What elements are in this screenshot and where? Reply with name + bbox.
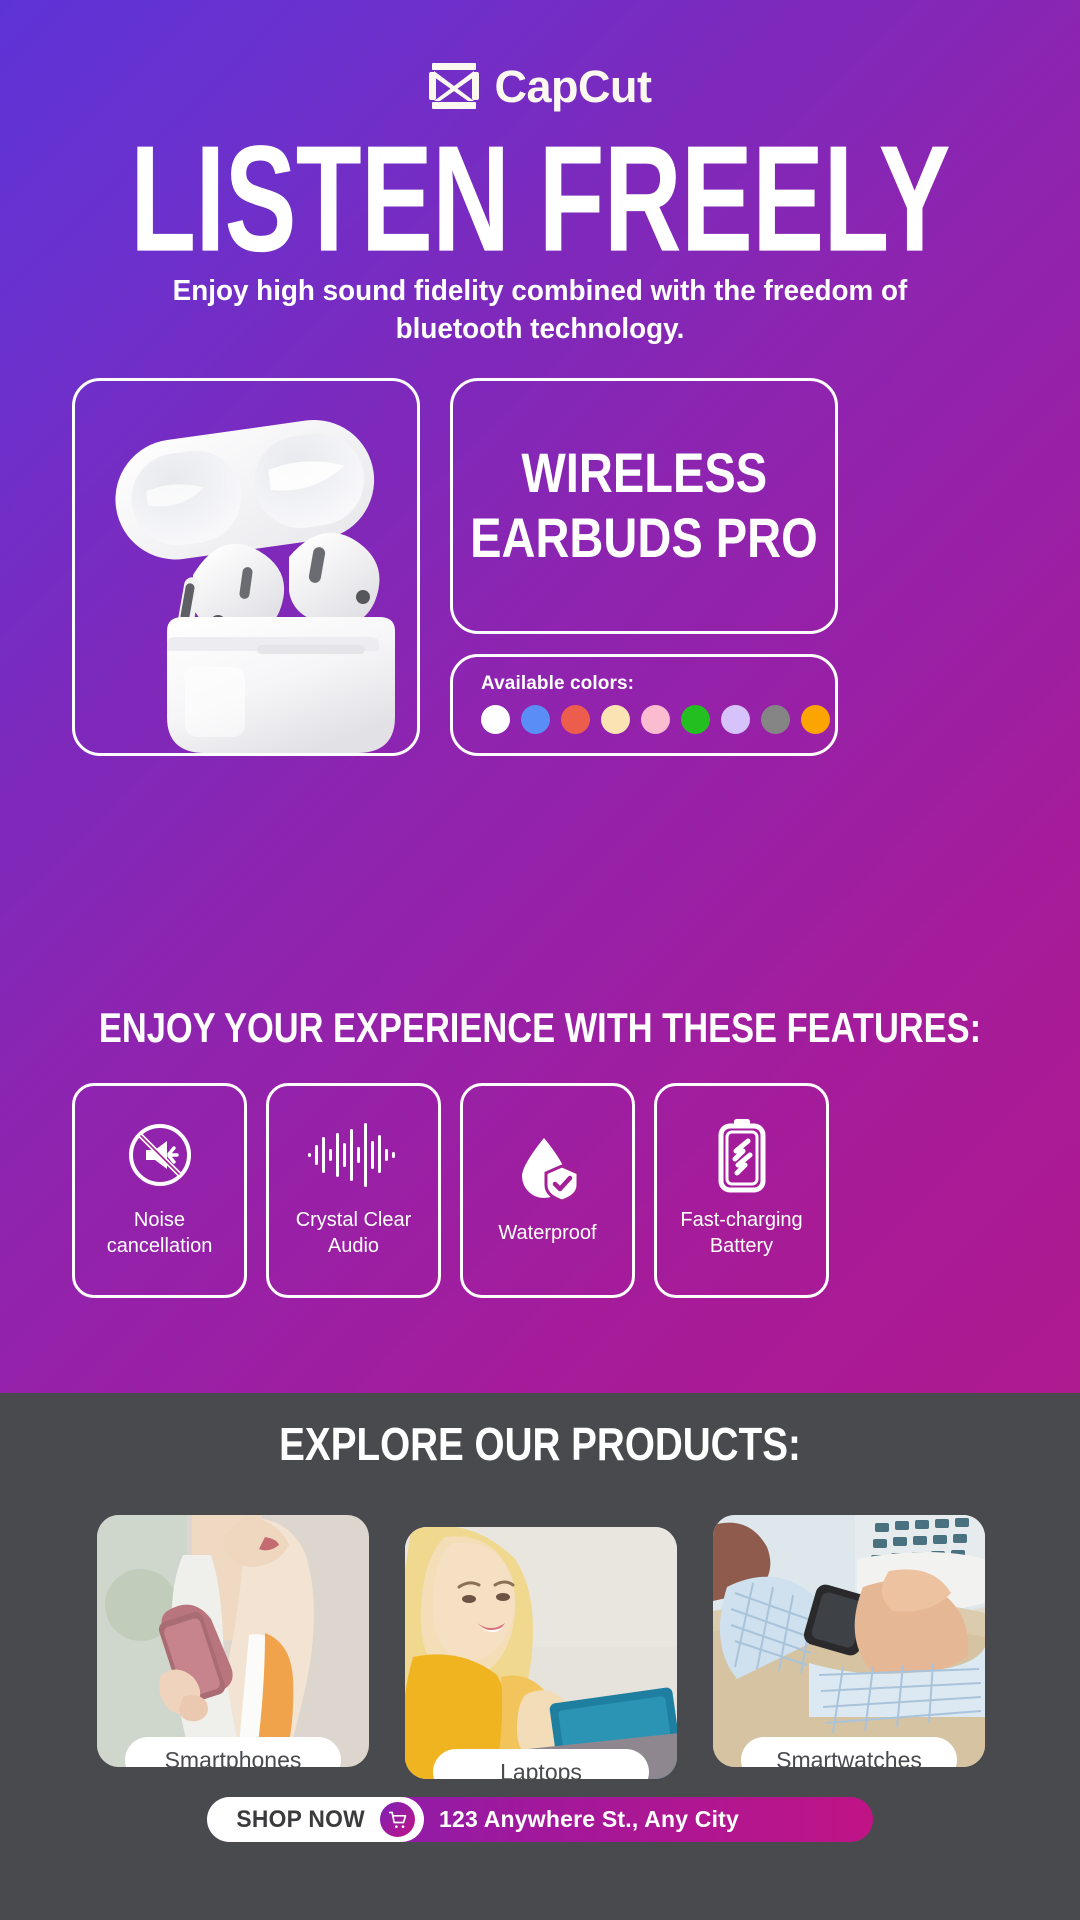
product-title-line1: WIRELESS — [521, 444, 767, 503]
store-address: 123 Anywhere St., Any City — [439, 1797, 739, 1842]
man-wearing-smartwatch-image — [713, 1515, 985, 1767]
product-image-card — [72, 378, 420, 756]
waterproof-droplet-icon — [512, 1131, 584, 1205]
hero-section: CapCut LISTEN FREELY Enjoy high sound fi… — [0, 0, 1080, 1393]
color-swatch-green[interactable] — [681, 705, 710, 734]
footer-bar: SHOP NOW 123 Anywhere St., Any City — [207, 1797, 873, 1842]
color-swatch-red[interactable] — [561, 705, 590, 734]
noise-cancellation-icon — [127, 1118, 193, 1192]
feature-label: Fast-charging Battery — [680, 1208, 802, 1259]
woman-holding-smartphone-image — [97, 1515, 369, 1767]
product-title-card: WIRELESS EARBUDS PRO — [450, 378, 838, 634]
shop-now-button[interactable]: SHOP NOW — [207, 1797, 424, 1842]
color-swatch-blue[interactable] — [521, 705, 550, 734]
feature-card-fast-charging-battery[interactable]: Fast-charging Battery — [654, 1083, 829, 1298]
available-colors-label: Available colors: — [481, 673, 835, 695]
brand-logo: CapCut — [0, 63, 1080, 109]
hero-subtitle: Enjoy high sound fidelity combined with … — [108, 272, 972, 349]
features-heading: ENJOY YOUR EXPERIENCE WITH THESE FEATURE… — [97, 1007, 983, 1049]
capcut-logo-icon — [429, 63, 479, 109]
color-swatch-list — [481, 705, 835, 734]
color-swatch-lavender[interactable] — [721, 705, 750, 734]
explore-card-label[interactable]: Laptops — [433, 1749, 649, 1779]
color-swatch-gray[interactable] — [761, 705, 790, 734]
feature-card-noise-cancellation[interactable]: Noise cancellation — [72, 1083, 247, 1298]
battery-charging-icon — [715, 1118, 769, 1192]
color-swatch-pink[interactable] — [641, 705, 670, 734]
feature-label: Noise cancellation — [107, 1208, 213, 1259]
feature-card-waterproof[interactable]: Waterproof — [460, 1083, 635, 1298]
brand-name: CapCut — [495, 64, 652, 109]
color-swatch-white[interactable] — [481, 705, 510, 734]
product-title-line2: EARBUDS PRO — [470, 509, 818, 568]
feature-card-crystal-clear-audio[interactable]: Crystal Clear Audio — [266, 1083, 441, 1298]
available-colors-card: Available colors: — [450, 654, 838, 756]
shopping-cart-icon — [380, 1802, 415, 1837]
poster-canvas: CapCut LISTEN FREELY Enjoy high sound fi… — [0, 0, 1080, 1920]
explore-card-label[interactable]: Smartwatches — [741, 1737, 957, 1767]
explore-product-grid: Smartphones — [97, 1515, 987, 1780]
audio-waveform-icon — [306, 1118, 402, 1192]
feature-label: Crystal Clear Audio — [296, 1208, 412, 1259]
color-swatch-cream[interactable] — [601, 705, 630, 734]
feature-label: Waterproof — [498, 1221, 596, 1246]
explore-card-smartwatches[interactable]: Smartwatches — [713, 1515, 985, 1767]
woman-smiling-at-laptop-image — [405, 1527, 677, 1779]
explore-heading: EXPLORE OUR PRODUCTS: — [86, 1421, 993, 1467]
color-swatch-orange[interactable] — [801, 705, 830, 734]
shop-now-label: SHOP NOW — [236, 1806, 365, 1834]
page-title: LISTEN FREELY — [108, 123, 972, 274]
features-row: Noise cancellation — [72, 1083, 1008, 1298]
explore-card-label[interactable]: Smartphones — [125, 1737, 341, 1767]
explore-card-laptops[interactable]: Laptops — [405, 1527, 677, 1779]
explore-card-smartphones[interactable]: Smartphones — [97, 1515, 369, 1767]
